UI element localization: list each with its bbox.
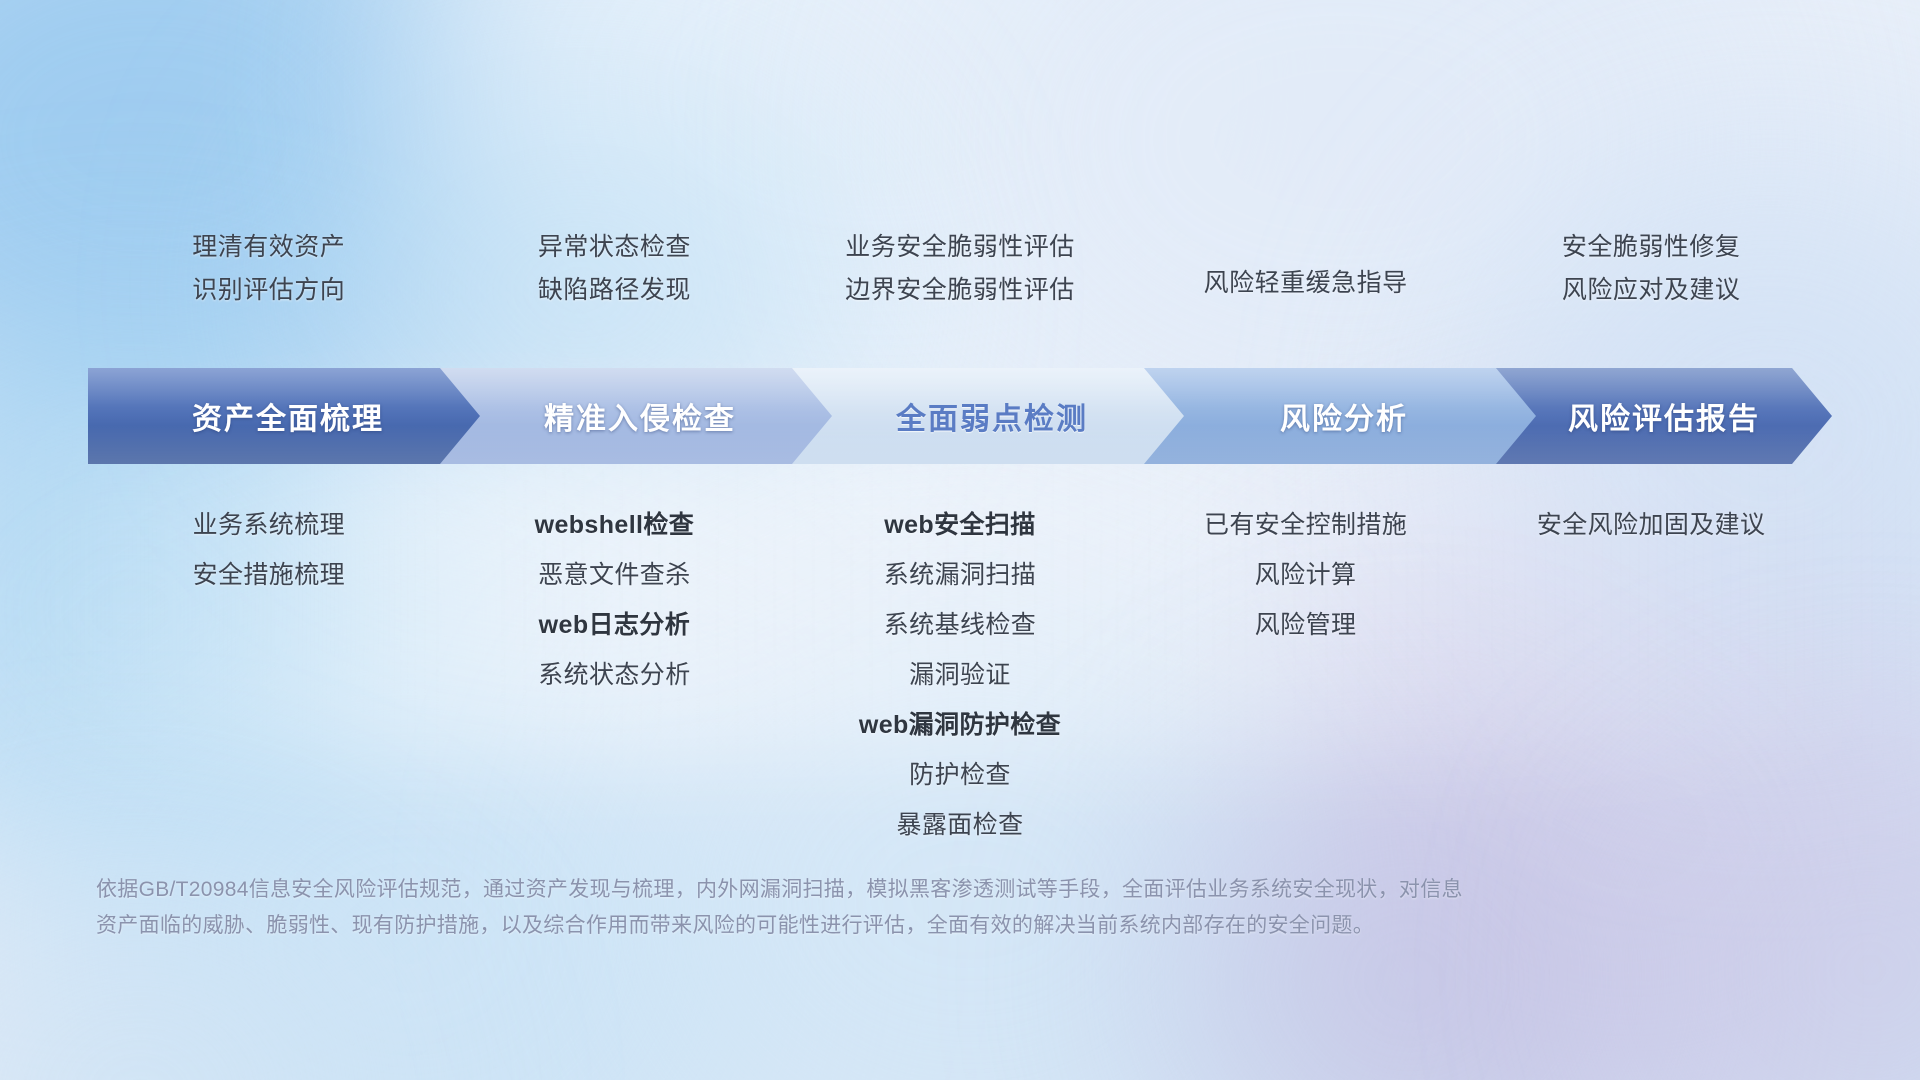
activity-item: 系统基线检查 — [787, 600, 1133, 650]
activity-item: webshell检查 — [442, 500, 788, 550]
activity-item: 安全风险加固及建议 — [1478, 500, 1824, 550]
stage-chevron-4[interactable]: 风险分析 — [1144, 368, 1544, 464]
outcome-text: 安全脆弱性修复 — [1478, 226, 1824, 269]
stage-activities-1: 业务系统梳理 安全措施梳理 — [96, 500, 442, 850]
stage-activities-5: 安全风险加固及建议 — [1478, 500, 1824, 850]
outcome-text: 识别评估方向 — [96, 269, 442, 312]
activity-item: 风险计算 — [1133, 550, 1479, 600]
activity-item: 已有安全控制措施 — [1133, 500, 1479, 550]
activity-item: web漏洞防护检查 — [787, 700, 1133, 750]
stage-activities-row: 业务系统梳理 安全措施梳理 webshell检查 恶意文件查杀 web日志分析 … — [96, 500, 1824, 850]
stage-chevron-5[interactable]: 风险评估报告 — [1496, 368, 1832, 464]
activity-item: 防护检查 — [787, 750, 1133, 800]
stage-title-1: 资产全面梳理 — [192, 394, 384, 438]
stage-outcomes-2: 异常状态检查 缺陷路径发现 — [442, 226, 788, 312]
stage-activities-4: 已有安全控制措施 风险计算 风险管理 — [1133, 500, 1479, 850]
outcome-text: 异常状态检查 — [442, 226, 788, 269]
outcome-text: 理清有效资产 — [96, 226, 442, 269]
stage-activities-3: web安全扫描 系统漏洞扫描 系统基线检查 漏洞验证 web漏洞防护检查 防护检… — [787, 500, 1133, 850]
stage-title-5: 风险评估报告 — [1568, 394, 1760, 438]
activity-item: 漏洞验证 — [787, 650, 1133, 700]
activity-item: 风险管理 — [1133, 600, 1479, 650]
process-chevron-band: 资产全面梳理 精准入侵检查 全面弱点检测 风险分析 风险评估报告 — [88, 368, 1832, 464]
stage-outcomes-row: 理清有效资产 识别评估方向 异常状态检查 缺陷路径发现 业务安全脆弱性评估 边界… — [96, 226, 1824, 312]
stage-chevron-3[interactable]: 全面弱点检测 — [792, 368, 1192, 464]
activity-item: 系统漏洞扫描 — [787, 550, 1133, 600]
activity-item: web日志分析 — [442, 600, 788, 650]
outcome-text: 业务安全脆弱性评估 — [787, 226, 1133, 269]
stage-activities-2: webshell检查 恶意文件查杀 web日志分析 系统状态分析 — [442, 500, 788, 850]
activity-item: web安全扫描 — [787, 500, 1133, 550]
activity-item: 业务系统梳理 — [96, 500, 442, 550]
activity-item: 系统状态分析 — [442, 650, 788, 700]
stage-outcomes-5: 安全脆弱性修复 风险应对及建议 — [1478, 226, 1824, 312]
activity-item: 恶意文件查杀 — [442, 550, 788, 600]
stage-chevron-1[interactable]: 资产全面梳理 — [88, 368, 488, 464]
stage-chevron-2[interactable]: 精准入侵检查 — [440, 368, 840, 464]
outcome-text: 风险应对及建议 — [1478, 269, 1824, 312]
stage-outcomes-3: 业务安全脆弱性评估 边界安全脆弱性评估 — [787, 226, 1133, 312]
activity-item: 暴露面检查 — [787, 800, 1133, 850]
stage-outcomes-1: 理清有效资产 识别评估方向 — [96, 226, 442, 312]
footer-line: 资产面临的威胁、脆弱性、现有防护措施，以及综合作用而带来风险的可能性进行评估，全… — [96, 908, 1656, 944]
stage-title-3: 全面弱点检测 — [896, 394, 1088, 438]
outcome-text: 边界安全脆弱性评估 — [787, 269, 1133, 312]
activity-item: 安全措施梳理 — [96, 550, 442, 600]
footer-description: 依据GB/T20984信息安全风险评估规范，通过资产发现与梳理，内外网漏洞扫描，… — [96, 872, 1656, 944]
outcome-text: 缺陷路径发现 — [442, 269, 788, 312]
outcome-text: 风险轻重缓急指导 — [1133, 262, 1479, 305]
stage-outcomes-4: 风险轻重缓急指导 — [1133, 226, 1479, 312]
stage-title-2: 精准入侵检查 — [544, 394, 736, 438]
footer-line: 依据GB/T20984信息安全风险评估规范，通过资产发现与梳理，内外网漏洞扫描，… — [96, 872, 1656, 908]
stage-title-4: 风险分析 — [1280, 394, 1408, 438]
